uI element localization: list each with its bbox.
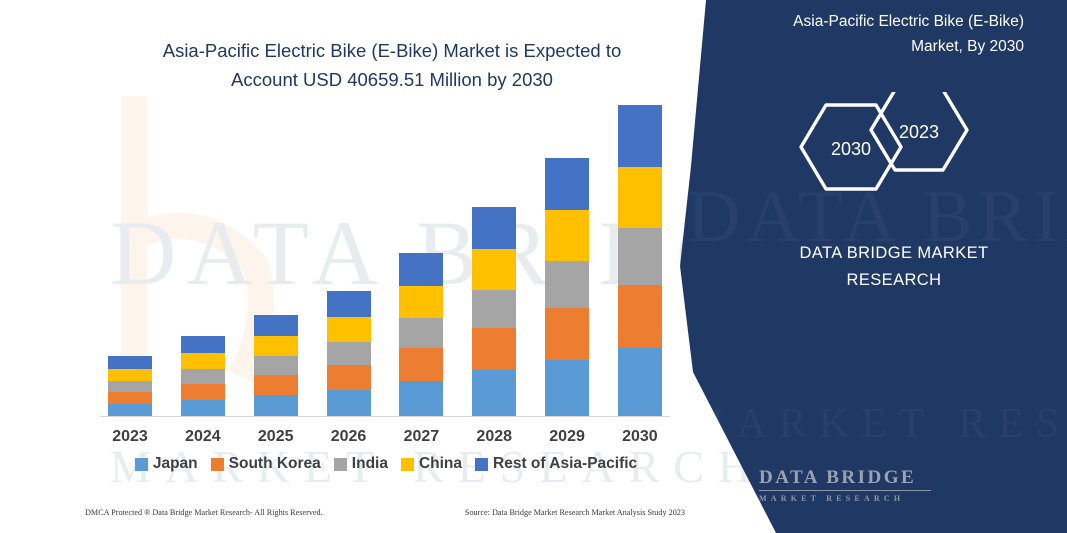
logo-wordmark: DATA BRIDGE MARKET RESEARCH [759,467,931,503]
legend-label: Rest of Asia-Pacific [493,455,637,473]
bar-column-2029[interactable] [545,158,589,417]
bar-segment[interactable] [181,400,225,417]
bar-segment[interactable] [399,348,443,381]
bar-segment[interactable] [254,356,298,375]
bar-segment[interactable] [472,207,516,249]
company-logo: DATA BRIDGE MARKET RESEARCH [699,463,1029,525]
legend-item[interactable]: India [334,455,388,473]
legend-label: China [419,455,462,473]
panel-watermark-secondary: MARKET RESEARCH [687,400,1067,448]
footer-source: Source: Data Bridge Market Research Mark… [465,508,685,517]
bar-segment[interactable] [327,317,371,342]
bar-segment[interactable] [254,375,298,395]
x-axis-tick-labels: 20232024202520262027202820292030 [100,428,670,446]
bar-segment[interactable] [618,167,662,228]
legend-label: Japan [153,455,198,473]
bar-segment[interactable] [399,318,443,348]
x-tick-2026: 2026 [327,428,371,446]
hexagon-year-badges: 2030 2023 [787,92,997,202]
bar-segment[interactable] [254,315,298,336]
x-tick-2027: 2027 [399,428,443,446]
bar-segment[interactable] [327,365,371,390]
brand-name: DATA BRIDGE MARKET RESEARCH [769,240,1019,294]
x-tick-2023: 2023 [108,428,152,446]
bar-segment[interactable] [181,336,225,353]
legend-swatch-icon [475,458,488,471]
bar-segment[interactable] [618,348,662,417]
legend-item[interactable]: Rest of Asia-Pacific [475,455,637,473]
bar-segment[interactable] [545,261,589,308]
x-tick-2025: 2025 [254,428,298,446]
bar-segment[interactable] [254,336,298,356]
hexagon-2030-label: 2030 [831,139,871,159]
chart-title: Asia-Pacific Electric Bike (E-Bike) Mark… [92,36,692,94]
legend-label: South Korea [229,455,321,473]
bar-segment[interactable] [472,249,516,290]
bar-segment[interactable] [181,369,225,384]
legend-swatch-icon [401,458,414,471]
hexagon-2023-label: 2023 [899,122,939,142]
bar-segment[interactable] [545,308,589,360]
x-tick-2024: 2024 [181,428,225,446]
x-axis-line [100,416,670,417]
logo-sub-text: MARKET RESEARCH [759,494,931,503]
legend-item[interactable]: Japan [135,455,198,473]
chart-title-line-2: Account USD 40659.51 Million by 2030 [92,65,692,94]
infographic-canvas: DATA BRIDGE MARKET RESEARCH Asia-Pacific… [0,0,1067,533]
x-tick-2029: 2029 [545,428,589,446]
bar-segment[interactable] [472,328,516,370]
panel-title-line-1: Asia-Pacific Electric Bike (E-Bike) [724,9,1024,34]
bar-segment[interactable] [399,381,443,417]
bar-segment[interactable] [327,291,371,317]
logo-main-text: DATA BRIDGE [759,467,931,489]
bar-segment[interactable] [181,384,225,400]
bar-column-2026[interactable] [327,291,371,417]
legend-swatch-icon [135,458,148,471]
bar-segment[interactable] [327,342,371,365]
bar-segment[interactable] [472,290,516,328]
bar-segment[interactable] [108,381,152,392]
bar-column-2030[interactable] [618,105,662,417]
legend-label: India [352,455,388,473]
logo-mark-icon [699,463,755,519]
footer-copyright: DMCA Protected ® Data Bridge Market Rese… [85,508,323,517]
legend-item[interactable]: South Korea [211,455,321,473]
bar-column-2023[interactable] [108,356,152,417]
chart-legend: JapanSouth KoreaIndiaChinaRest of Asia-P… [100,455,672,473]
bar-column-2024[interactable] [181,336,225,417]
bar-segment[interactable] [472,370,516,417]
brand-name-line-2: RESEARCH [769,267,1019,294]
bar-segment[interactable] [618,228,662,285]
footer: DMCA Protected ® Data Bridge Market Rese… [85,508,685,517]
bar-column-2027[interactable] [399,253,443,417]
bar-segment[interactable] [545,360,589,417]
brand-name-line-1: DATA BRIDGE MARKET [769,240,1019,267]
bar-segment[interactable] [108,356,152,369]
logo-divider [759,490,931,491]
bar-segment[interactable] [399,286,443,318]
bar-segment[interactable] [618,285,662,348]
bar-segment[interactable] [327,390,371,417]
chart-plot-area [100,125,670,417]
bar-column-2025[interactable] [254,315,298,417]
x-tick-2028: 2028 [472,428,516,446]
legend-swatch-icon [211,458,224,471]
bar-segment[interactable] [254,395,298,417]
bar-segment[interactable] [108,392,152,404]
panel-title: Asia-Pacific Electric Bike (E-Bike) Mark… [724,9,1024,59]
bar-segment[interactable] [181,353,225,369]
panel-title-line-2: Market, By 2030 [724,34,1024,59]
x-tick-2030: 2030 [618,428,662,446]
legend-item[interactable]: China [401,455,462,473]
bar-segment[interactable] [545,210,589,261]
brand-panel: DATA BRIDGE MARKET RESEARCH Asia-Pacific… [677,0,1067,533]
bar-group [100,125,670,417]
bar-segment[interactable] [108,369,152,381]
chart-title-line-1: Asia-Pacific Electric Bike (E-Bike) Mark… [92,36,692,65]
bar-segment[interactable] [618,105,662,167]
bar-segment[interactable] [399,253,443,286]
bar-column-2028[interactable] [472,207,516,417]
legend-swatch-icon [334,458,347,471]
bar-segment[interactable] [545,158,589,210]
